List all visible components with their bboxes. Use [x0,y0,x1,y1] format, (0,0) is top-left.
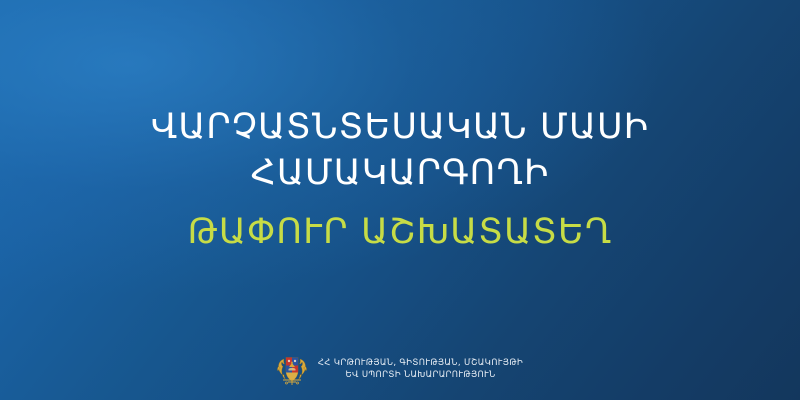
ministry-line-2: ԵՎ ՍՊՈՐՏԻ ՆԱԽԱՐԱՐՈՒԹՅՈՒՆ [318,370,523,381]
headline-line-2: ՀԱՄԱԿԱՐԳՈՂԻ [0,150,800,196]
vacancy-announcement-banner: ՎԱՐՉԱՏՆՏԵՍԱԿԱՆ ՄԱՍԻ ՀԱՄԱԿԱՐԳՈՂԻ ԹԱՓՈՒՐ Ա… [0,0,800,400]
headline-line-1: ՎԱՐՉԱՏՆՏԵՍԱԿԱՆ ՄԱՍԻ [0,104,800,150]
ministry-name-text: ՀՀ ԿՐԹՈՒԹՅԱՆ, ԳԻՏՈՒԹՅԱՆ, ՄՇԱԿՈՒՅԹԻ ԵՎ ՍՊ… [318,358,523,381]
headline-block: ՎԱՐՉԱՏՆՏԵՍԱԿԱՆ ՄԱՍԻ ՀԱՄԱԿԱՐԳՈՂԻ ԹԱՓՈՒՐ Ա… [0,104,800,255]
ministry-lockup: ՀՀ ԿՐԹՈՒԹՅԱՆ, ԳԻՏՈՒԹՅԱՆ, ՄՇԱԿՈՒՅԹԻ ԵՎ ՍՊ… [0,352,800,386]
headline-accent-vacancy: ԹԱՓՈՒՐ ԱՇԽԱՏԱՏԵՂ [0,209,800,255]
armenia-coat-of-arms-icon [277,352,307,386]
ministry-line-1: ՀՀ ԿՐԹՈՒԹՅԱՆ, ԳԻՏՈՒԹՅԱՆ, ՄՇԱԿՈՒՅԹԻ [318,358,523,369]
